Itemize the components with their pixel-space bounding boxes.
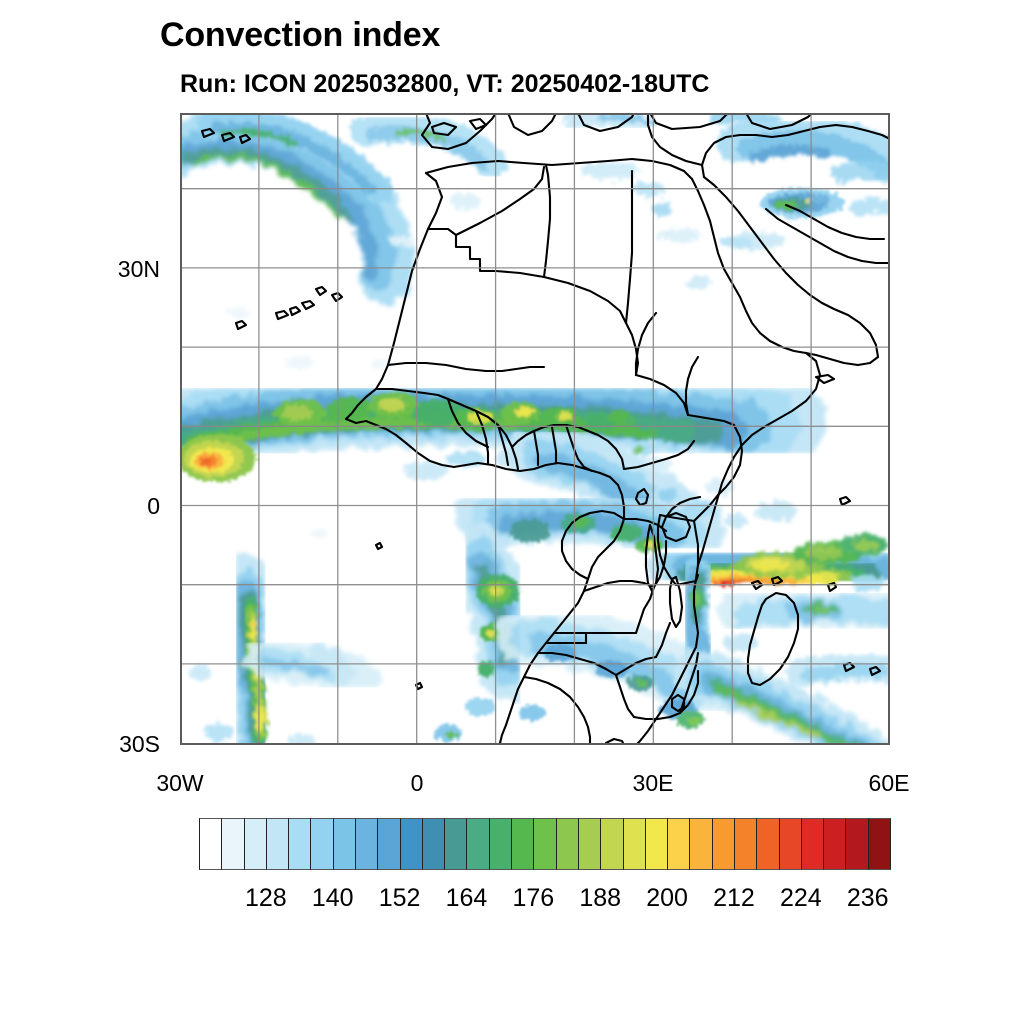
convection-index-figure: Convection index Run: ICON 2025032800, V… bbox=[0, 0, 1024, 1024]
colorbar-cell bbox=[355, 818, 378, 870]
colorbar-cell bbox=[199, 818, 222, 870]
colorbar-cell bbox=[310, 818, 333, 870]
colorbar-cell bbox=[845, 818, 868, 870]
page-title: Convection index bbox=[160, 16, 440, 55]
colorbar-cell bbox=[801, 818, 824, 870]
colorbar-cell bbox=[333, 818, 356, 870]
colorbar-cell bbox=[422, 818, 445, 870]
colorbar-cell bbox=[466, 818, 489, 870]
convection-map bbox=[180, 113, 890, 745]
colorbar-cell bbox=[779, 818, 802, 870]
colorbar-cell bbox=[556, 818, 579, 870]
colorbar-cell bbox=[689, 818, 712, 870]
colorbar-cell bbox=[400, 818, 423, 870]
x-tick-label-60e: 60E bbox=[851, 770, 927, 797]
colorbar-cell bbox=[578, 818, 601, 870]
colorbar-tick-label: 236 bbox=[828, 884, 908, 913]
y-tick-label-30s: 30S bbox=[96, 731, 160, 758]
colorbar-cell bbox=[868, 818, 891, 870]
map-plot-area bbox=[180, 113, 890, 745]
colorbar-cell bbox=[623, 818, 646, 870]
colorbar-cell bbox=[712, 818, 735, 870]
colorbar-cell bbox=[533, 818, 556, 870]
colorbar-cell bbox=[221, 818, 244, 870]
colorbar-cell bbox=[823, 818, 846, 870]
colorbar-cell bbox=[288, 818, 311, 870]
colorbar-cell bbox=[444, 818, 467, 870]
colorbar-cell bbox=[377, 818, 400, 870]
colorbar-cell bbox=[511, 818, 534, 870]
colorbar-cell bbox=[756, 818, 779, 870]
x-tick-label-30w: 30W bbox=[142, 770, 218, 797]
colorbar-cell bbox=[266, 818, 289, 870]
colorbar-cell bbox=[244, 818, 267, 870]
x-tick-label-30e: 30E bbox=[615, 770, 691, 797]
colorbar-cell bbox=[489, 818, 512, 870]
y-tick-label-30n: 30N bbox=[96, 256, 160, 283]
colorbar-cell bbox=[600, 818, 623, 870]
x-tick-label-0: 0 bbox=[379, 770, 455, 797]
colorbar bbox=[199, 818, 890, 870]
y-tick-label-0: 0 bbox=[96, 493, 160, 520]
colorbar-cell bbox=[734, 818, 757, 870]
colorbar-cell bbox=[667, 818, 690, 870]
run-valid-time-subtitle: Run: ICON 2025032800, VT: 20250402-18UTC bbox=[180, 70, 709, 99]
colorbar-cell bbox=[645, 818, 668, 870]
